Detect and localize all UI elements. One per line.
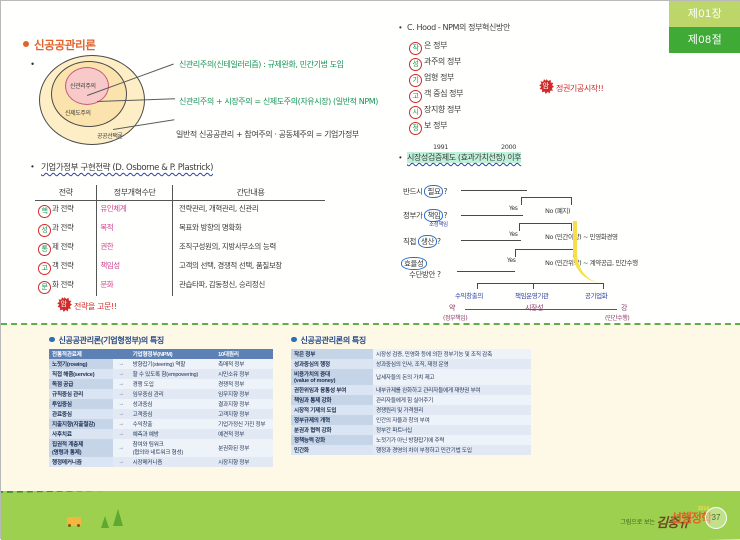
left-th-npm: 기업형정부(NPM) <box>130 349 216 359</box>
chapter-tab-1: 제01장 <box>669 1 740 27</box>
cell-description: 시장성 검증, 민영화 등에 의한 정부기능 및 조직 감축 <box>373 349 531 359</box>
strategy-detail: 조직구성원의, 지방사무소의 능력 <box>173 239 325 258</box>
table-row: 독점 공급 → 경쟁 도입 경쟁적 정부 <box>49 379 273 389</box>
circle-marker: 시 <box>409 106 422 119</box>
table-row: 정책능력 강화 노젓기가 아닌 방향잡기에 주력 <box>291 435 531 445</box>
cell-feature: 분권과 협력 강화 <box>291 425 373 435</box>
green-hill-decoration <box>1 491 740 540</box>
table-row: 작은 정부 시장성 검증, 민영화 등에 의한 정부기능 및 조직 감축 <box>291 349 531 359</box>
venn-note-line-3: 일반적 신공공관리 + 참여주의 · 공동체주의 = 기업가정부 <box>176 129 359 140</box>
arrow-icon: → <box>113 409 130 419</box>
venn-outer-label: 공공선택론 <box>97 131 123 140</box>
table-row: 책임과 통제 강화 관리자들에게 힘 실어주기 <box>291 395 531 405</box>
table-row: 비용가치의 증대 (value of money) 납세자들의 돈의 가치 제고 <box>291 369 531 385</box>
circle-marker: 문 <box>38 281 51 294</box>
strategy-name: 통제 전략 <box>35 239 96 258</box>
flow-question-1: 반드시 필요? <box>403 185 447 198</box>
cell-feature: 책임과 통제 강화 <box>291 395 373 405</box>
circle-marker: 핵 <box>38 205 51 218</box>
cell-principle: 고객지향 정부 <box>215 409 273 419</box>
col-header-detail: 간단내용 <box>173 185 325 200</box>
cell-feature: 성과중심의 행정 <box>291 359 373 369</box>
flow-branch-2-right <box>571 223 572 231</box>
strategy-means: 문화 <box>96 277 173 296</box>
scale-left-sub: (정부책임) <box>443 313 467 322</box>
flow-connector-1 <box>461 190 527 191</box>
cell-npm: 시장메커니즘 <box>130 457 216 467</box>
strategy-name: 고객 전략 <box>35 258 96 277</box>
table-row: 문화 전략 문화 관습타파, 감동정신, 승리정신 <box>35 277 325 296</box>
flow-outcome-tick-1 <box>477 283 478 289</box>
cell-traditional: 규칙중심 관리 <box>49 389 113 399</box>
circle-marker: 통 <box>38 243 51 256</box>
table-row: 지출지향(지출절감) → 수익창출 기업가정신 가진 정부 <box>49 419 273 429</box>
mnemonic-note-left: 암전략을 고문!! <box>57 297 117 312</box>
list-item: 고객 중심 정부 <box>409 87 463 103</box>
flow-yes-3: Yes <box>507 257 516 264</box>
left-th-principles: 10대원리 <box>215 349 273 359</box>
flow-question-3: 직접 생산? <box>403 235 441 248</box>
chapter-tab-2: 제08절 <box>669 27 740 53</box>
table-row: 통제 전략 권한 조직구성원의, 지방사무소의 능력 <box>35 239 325 258</box>
table-row: 분권과 협력 강화 정부간 파트너십 <box>291 425 531 435</box>
arrow-icon: → <box>113 439 130 457</box>
cell-feature: 정책능력 강화 <box>291 435 373 445</box>
venn-inner-label: 신관리주의 <box>70 81 96 90</box>
left-table: 전통적관료제 기업형정부(NPM) 10대원리 노젓기(rowing) → 방향… <box>49 349 273 467</box>
strategy-means: 권한 <box>96 239 173 258</box>
cell-principle: 기업가정신 가진 정부 <box>215 419 273 429</box>
subheading-osborne: 기업가정부 구현전략 (D. Osborne & P. Plastrick) <box>41 161 213 173</box>
scale-right-sub: (민간수행) <box>605 313 629 322</box>
col-header-strategy: 전략 <box>35 185 96 200</box>
strategy-detail: 목표와 방향의 명확화 <box>173 220 325 239</box>
cell-description: 관리자들에게 힘 실어주기 <box>373 395 531 405</box>
arrow-icon: → <box>113 379 130 389</box>
note-bullet-icon-4: • <box>399 153 402 162</box>
venn-note-line-1: 신관리주의(신테일러리즘) : 규제완화, 민간기법 도입 <box>179 59 344 70</box>
star-burst-icon: 암 <box>57 297 74 312</box>
strategy-name: 문화 전략 <box>35 277 96 296</box>
arrow-icon: → <box>113 369 130 379</box>
page-number: 37 <box>705 507 727 529</box>
left-th-arrow <box>113 349 130 359</box>
table-row: 집권적 계층제 (명령과 통제) → 참여와 팀워크 (협의와 네트워크 형성)… <box>49 439 273 457</box>
arrow-icon: → <box>113 399 130 409</box>
table-row: 권한위임과 융통성 부여 내부규제를 완화하고 관리자들에게 재량권 부여 <box>291 385 531 395</box>
year-right: 2000 <box>501 143 516 151</box>
cell-traditional: 노젓기(rowing) <box>49 359 113 369</box>
blue-dot-icon <box>291 337 297 343</box>
table-row: 노젓기(rowing) → 방향잡기(steering) 역할 촉매적 정부 <box>49 359 273 369</box>
strategy-means: 책임성 <box>96 258 173 277</box>
flow-connector-4 <box>457 271 515 272</box>
cell-traditional: 직접 해줌(service) <box>49 369 113 379</box>
hood-list: 작은 정부 성과주의 정부 기업형 정부 고객 중심 정부 시장지향 정부 정보… <box>409 39 463 135</box>
cell-feature: 시장적 기제의 도입 <box>291 405 373 415</box>
cell-npm: 경쟁 도입 <box>130 379 216 389</box>
strategy-name: 성과 전략 <box>35 220 96 239</box>
scale-middle-label: 시장성 <box>525 303 543 313</box>
list-item: 정보 정부 <box>409 119 463 135</box>
cell-principle: 촉매적 정부 <box>215 359 273 369</box>
list-item: 시장지향 정부 <box>409 103 463 119</box>
flow-subnote: 조정책임 <box>429 220 448 228</box>
hood-title: C. Hood - NPM의 정부혁신방안 <box>407 22 510 33</box>
flow-connector-3 <box>461 240 521 241</box>
flow-bubble-3: 생산 <box>418 235 437 248</box>
circle-marker: 성 <box>38 224 51 237</box>
cell-principle: 경쟁적 정부 <box>215 379 273 389</box>
yellow-highlight-curve <box>573 221 603 283</box>
cell-npm: 예측과 예방 <box>130 429 216 439</box>
summary-panel: 신공공관리론(기업형정부)의 특징 전통적관료제 기업형정부(NPM) 10대원… <box>1 323 740 491</box>
cell-description: 정부간 파트너십 <box>373 425 531 435</box>
list-item: 기업형 정부 <box>409 71 463 87</box>
table-row: 행정메커니즘 → 시장메커니즘 시장지향 정부 <box>49 457 273 467</box>
cell-npm: 임무중심 관리 <box>130 389 216 399</box>
flow-branch-1-right <box>571 197 572 205</box>
star-burst-icon: 암 <box>539 79 556 94</box>
right-table-title: 신공공관리론의 특징 <box>291 335 366 346</box>
table-row: 시장적 기제의 도입 경쟁원리 및 가격원리 <box>291 405 531 415</box>
cell-principle: 시민소유 정부 <box>215 369 273 379</box>
flow-branch-3-left <box>515 249 516 257</box>
cell-principle: 결과지향 정부 <box>215 399 273 409</box>
note-bullet-icon-3: • <box>399 23 402 32</box>
cell-description: 경쟁원리 및 가격원리 <box>373 405 531 415</box>
cell-npm: 할 수 있도록 함(empowering) <box>130 369 216 379</box>
table-row: 민간화 행정과 경영의 차이 부정하고 민간기법 도입 <box>291 445 531 455</box>
circle-marker: 작 <box>409 42 422 55</box>
table-row: 성과 전략 목적 목표와 방향의 명확화 <box>35 220 325 239</box>
flow-yes-1: Yes <box>509 205 518 212</box>
strategy-table: 전략 정부개혁수단 간단내용 핵과 전략 유인체계 전략관리, 개혁관리, 신관… <box>35 185 325 296</box>
flow-question-4: 수단방안 ? <box>409 269 441 280</box>
flow-branch-3 <box>515 249 573 250</box>
decision-flowchart: 반드시 필요? 정부가 책임? 조정책임 직접 생산? 효율성 수단방안 ? <box>399 179 735 321</box>
cell-description: 성과중심의 인사, 조직, 재정 운영 <box>373 359 531 369</box>
page-root: 제01장 제08절 신공공관리론 • 신관리주의 신제도주의 공공선택론 신관리… <box>0 0 740 539</box>
cell-principle: 임무지향 정부 <box>215 389 273 399</box>
flow-connector-2 <box>461 215 523 216</box>
handwritten-note-area: 제01장 제08절 신공공관리론 • 신관리주의 신제도주의 공공선택론 신관리… <box>1 1 740 323</box>
strategy-table-header: 전략 정부개혁수단 간단내용 <box>35 185 325 201</box>
cell-feature: 민간화 <box>291 445 373 455</box>
cell-principle: 예견적 정부 <box>215 429 273 439</box>
flow-branch-2 <box>519 223 571 224</box>
cell-npm: 고객중심 <box>130 409 216 419</box>
cell-description: 내부규제를 완화하고 관리자들에게 재량권 부여 <box>373 385 531 395</box>
venn-middle-label: 신제도주의 <box>65 108 91 117</box>
flow-outcome-1: 수익창출의 <box>455 290 483 300</box>
strategy-detail: 전략관리, 개혁관리, 신관리 <box>173 201 325 220</box>
right-table: 작은 정부 시장성 검증, 민영화 등에 의한 정부기능 및 조직 감축 성과중… <box>291 349 531 455</box>
circle-marker: 고 <box>409 90 422 103</box>
table-row: 투입중심 → 성과중심 결과지향 정부 <box>49 399 273 409</box>
strategy-detail: 관습타파, 감동정신, 승리정신 <box>173 277 325 296</box>
arrow-icon: → <box>113 359 130 369</box>
cell-principle: 시장지향 정부 <box>215 457 273 467</box>
cell-feature: 작은 정부 <box>291 349 373 359</box>
blue-dot-icon <box>49 337 55 343</box>
table-row: 직접 해줌(service) → 할 수 있도록 함(empowering) 시… <box>49 369 273 379</box>
left-th-traditional: 전통적관료제 <box>49 349 113 359</box>
table-row: 정부규제의 개혁 인간의 자율과 창의 부여 <box>291 415 531 425</box>
cell-traditional: 집권적 계층제 (명령과 통제) <box>49 439 113 457</box>
strategy-means: 목적 <box>96 220 173 239</box>
cell-traditional: 행정메커니즘 <box>49 457 113 467</box>
page-footer: 그림으로 보는 김중규 2014 선행정학 37 <box>1 491 740 540</box>
flow-outcome-3: 공기업화 <box>585 290 607 300</box>
cell-traditional: 독점 공급 <box>49 379 113 389</box>
flow-outcome-tick-3 <box>603 283 604 289</box>
circle-marker: 고 <box>38 262 51 275</box>
cell-description: 노젓기가 아닌 방향잡기에 주력 <box>373 435 531 445</box>
note-bullet-icon-2: • <box>31 161 34 171</box>
cell-traditional: 투입중심 <box>49 399 113 409</box>
arrow-icon: → <box>113 389 130 399</box>
chapter-tabs: 제01장 제08절 <box>669 1 740 53</box>
table-row: 규칙중심 관리 → 임무중심 관리 임무지향 정부 <box>49 389 273 399</box>
cell-traditional: 사후치료 <box>49 429 113 439</box>
tree-icon-large <box>113 509 123 526</box>
left-table-title: 신공공관리론(기업형정부)의 특징 <box>49 335 164 346</box>
col-header-means: 정부개혁수단 <box>96 185 173 200</box>
dashed-divider <box>1 323 740 325</box>
cell-description: 인간의 자율과 창의 부여 <box>373 415 531 425</box>
table-row: 성과중심의 행정 성과중심의 인사, 조직, 재정 운영 <box>291 359 531 369</box>
flow-branch-2-left <box>519 223 520 231</box>
cell-npm: 방향잡기(steering) 역할 <box>130 359 216 369</box>
cell-feature: 권한위임과 융통성 부여 <box>291 385 373 395</box>
cell-feature: 비용가치의 증대 (value of money) <box>291 369 373 385</box>
tree-icon-small <box>101 516 109 528</box>
venn-note-line-2: 신관리주의 + 시장주의 = 신제도주의(자유시장) (일반적 NPM) <box>179 96 378 107</box>
mnemonic-note-right: 암정권기공시작!! <box>539 79 603 94</box>
cell-traditional: 지출지향(지출절감) <box>49 419 113 429</box>
cell-npm: 성과중심 <box>130 399 216 409</box>
table-row: 사후치료 → 예측과 예방 예견적 정부 <box>49 429 273 439</box>
cell-description: 행정과 경영의 차이 부정하고 민간기법 도입 <box>373 445 531 455</box>
circle-marker: 기 <box>409 74 422 87</box>
strategy-name: 핵과 전략 <box>35 201 96 220</box>
cell-description: 납세자들의 돈의 가치 제고 <box>373 369 531 385</box>
flow-branch-1-left <box>521 197 522 205</box>
arrow-icon: → <box>113 457 130 467</box>
list-item: 작은 정부 <box>409 39 463 55</box>
cell-feature: 정부규제의 개혁 <box>291 415 373 425</box>
page-title: 신공공관리론 <box>23 37 96 53</box>
strategy-means: 유인체계 <box>96 201 173 220</box>
footer-tagline: 그림으로 보는 <box>620 517 655 526</box>
school-bus-icon <box>67 517 81 526</box>
cell-npm: 참여와 팀워크 (협의와 네트워크 형성) <box>130 439 216 457</box>
scale-right-label: 강 <box>621 303 627 313</box>
flow-no-1: No (폐지) <box>545 205 570 215</box>
scale-left-label: 약 <box>449 303 455 313</box>
cell-principle: 분권화된 정부 <box>215 439 273 457</box>
flow-yes-2: Yes <box>509 231 518 238</box>
table-header-row: 전통적관료제 기업형정부(NPM) 10대원리 <box>49 349 273 359</box>
cell-npm: 수익창출 <box>130 419 216 429</box>
strategy-detail: 고객의 선택, 경쟁적 선택, 품질보장 <box>173 258 325 277</box>
flow-branch-1 <box>521 197 571 198</box>
flow-outcome-tick-2 <box>533 283 534 289</box>
circle-marker: 성 <box>409 58 422 71</box>
flow-bubble-1: 필요 <box>424 185 443 198</box>
table-row: 핵과 전략 유인체계 전략관리, 개혁관리, 신관리 <box>35 201 325 220</box>
bullet-icon <box>23 41 29 47</box>
flow-outcome-2: 책임운영기관 <box>515 290 548 300</box>
table-row: 고객 전략 책임성 고객의 선택, 경쟁적 선택, 품질보장 <box>35 258 325 277</box>
arrow-icon: → <box>113 419 130 429</box>
flow-outcome-bar <box>477 283 603 284</box>
cell-traditional: 관료중심 <box>49 409 113 419</box>
note-bullet-icon: • <box>31 59 34 69</box>
list-item: 성과주의 정부 <box>409 55 463 71</box>
arrow-icon: → <box>113 429 130 439</box>
circle-marker: 정 <box>409 122 422 135</box>
market-testing-label: 시장성검증제도 (효과가치선정) 이후 <box>407 152 521 163</box>
table-row: 관료중심 → 고객중심 고객지향 정부 <box>49 409 273 419</box>
year-left: 1991 <box>433 143 448 151</box>
